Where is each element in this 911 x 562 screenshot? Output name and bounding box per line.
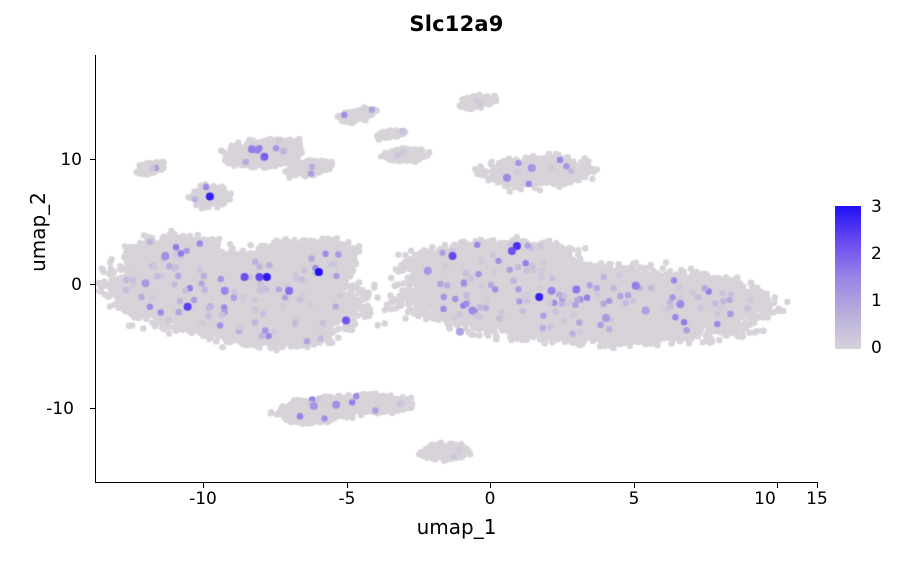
plot-area xyxy=(95,55,818,483)
colorbar-label: 2 xyxy=(871,246,882,263)
colorbar-label: 0 xyxy=(871,340,882,357)
ytick-mark xyxy=(90,159,95,160)
xtick-mark xyxy=(203,483,204,488)
xtick-mark xyxy=(777,483,778,488)
scatter-canvas xyxy=(96,55,818,483)
colorbar-gradient xyxy=(835,206,861,349)
colorbar-tick xyxy=(861,301,865,302)
chart-title: Slc12a9 xyxy=(95,12,818,36)
colorbar-tick xyxy=(861,207,865,208)
xtick-label: 15 xyxy=(787,489,847,509)
colorbar-label: 3 xyxy=(871,199,882,216)
ytick-mark xyxy=(90,408,95,409)
xtick-label: -10 xyxy=(173,489,233,509)
xtick-label: 5 xyxy=(604,489,664,509)
xtick-mark xyxy=(634,483,635,488)
xtick-mark xyxy=(817,483,818,488)
ytick-label: -10 xyxy=(28,399,74,419)
xtick-mark xyxy=(490,483,491,488)
xtick-mark xyxy=(347,483,348,488)
xtick-label: 10 xyxy=(735,489,795,509)
xtick-label: 0 xyxy=(460,489,520,509)
colorbar-tick xyxy=(861,254,865,255)
umap-feature-plot: Slc12a9 -10 -5 0 5 10 15 10 0 -10 umap_1… xyxy=(0,0,911,562)
y-axis-label: umap_2 xyxy=(26,152,50,312)
xtick-label: -5 xyxy=(317,489,377,509)
colorbar-tick xyxy=(861,347,865,348)
colorbar-label: 1 xyxy=(871,293,882,310)
x-axis-label: umap_1 xyxy=(95,515,818,539)
ytick-mark xyxy=(90,284,95,285)
colorbar: 3 2 1 0 xyxy=(835,206,905,349)
